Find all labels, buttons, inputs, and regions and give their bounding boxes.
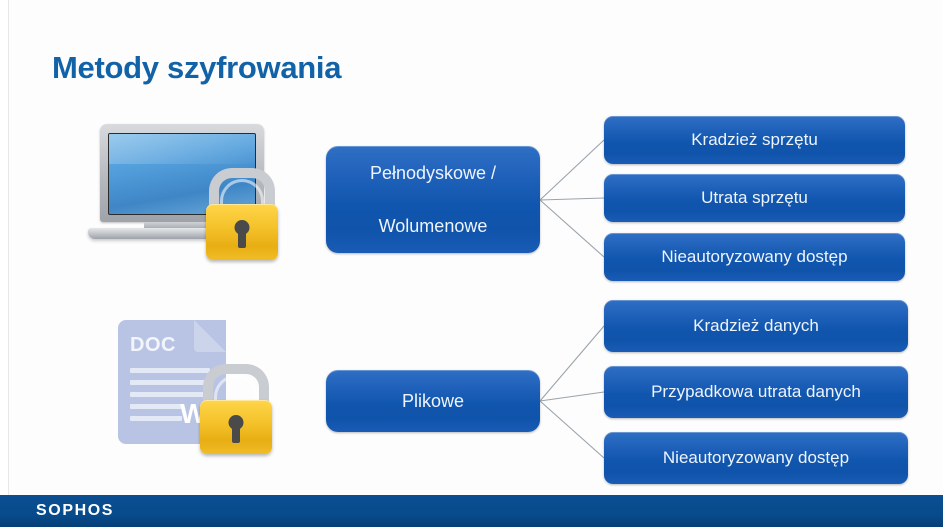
- slide-left-edge: [0, 0, 9, 495]
- document-text-line: [130, 380, 210, 385]
- document-text-line: [130, 368, 210, 373]
- connector-bottom-2: [540, 392, 604, 401]
- risk-box-hardware-loss[interactable]: Utrata sprzętu: [604, 174, 905, 222]
- laptop-lock-icon: [88, 122, 288, 258]
- risk-label: Nieautoryzowany dostęp: [653, 446, 859, 471]
- page-title: Metody szyfrowania: [52, 50, 341, 86]
- footer-bar: SOPHOS: [0, 495, 943, 527]
- document-type-label: DOC: [130, 334, 176, 357]
- padlock-icon: [200, 364, 272, 454]
- connector-top-3: [540, 200, 604, 257]
- risk-box-unauthorized-access-top[interactable]: Nieautoryzowany dostęp: [604, 233, 905, 281]
- category-label: Pełnodyskowe / Wolumenowe: [350, 160, 516, 238]
- category-box-full-disk[interactable]: Pełnodyskowe / Wolumenowe: [326, 146, 540, 253]
- risk-box-accidental-data-loss[interactable]: Przypadkowa utrata danych: [604, 366, 908, 418]
- document-text-line: [130, 416, 182, 421]
- category-label: Plikowe: [392, 388, 474, 414]
- connector-top-2: [540, 198, 604, 200]
- document-fold-icon: [194, 320, 226, 352]
- padlock-keyslot-icon: [238, 231, 246, 248]
- risk-box-data-theft[interactable]: Kradzież danych: [604, 300, 908, 352]
- risk-label: Utrata sprzętu: [691, 186, 818, 211]
- document-text-line: [130, 392, 210, 397]
- category-box-file-level[interactable]: Plikowe: [326, 370, 540, 432]
- risk-label: Przypadkowa utrata danych: [641, 380, 871, 405]
- risk-box-unauthorized-access-bottom[interactable]: Nieautoryzowany dostęp: [604, 432, 908, 484]
- category-label-line1: Pełnodyskowe /: [360, 160, 506, 186]
- risk-box-hardware-theft[interactable]: Kradzież sprzętu: [604, 116, 905, 164]
- document-text-line: [130, 404, 182, 409]
- padlock-icon: [206, 168, 278, 260]
- connector-bottom-3: [540, 401, 604, 458]
- sophos-logo: SOPHOS: [36, 502, 114, 520]
- connector-top-1: [540, 140, 604, 200]
- risk-label: Kradzież sprzętu: [681, 128, 828, 153]
- risk-label: Kradzież danych: [683, 314, 829, 339]
- document-lock-icon: DOC W: [118, 320, 288, 452]
- risk-label: Nieautoryzowany dostęp: [651, 245, 857, 270]
- slide-canvas: Metody szyfrowania DOC: [0, 0, 943, 527]
- padlock-keyslot-icon: [232, 426, 240, 443]
- category-label-line2: Wolumenowe: [360, 213, 506, 239]
- connector-bottom-1: [540, 326, 604, 401]
